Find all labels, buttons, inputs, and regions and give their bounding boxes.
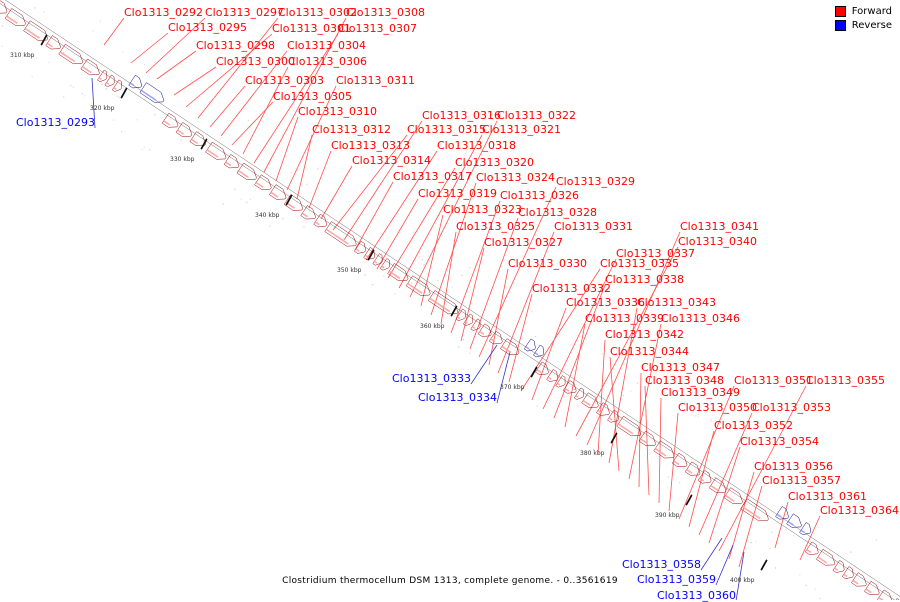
gene-label[interactable]: Clo1313_0348 — [645, 375, 724, 386]
gene-label[interactable]: Clo1313_0305 — [273, 91, 352, 102]
gene-label[interactable]: Clo1313_0295 — [168, 22, 247, 33]
gene-label[interactable]: Clo1313_0344 — [610, 346, 689, 357]
speckle — [623, 395, 624, 396]
speckle — [282, 218, 283, 219]
speckle — [850, 552, 851, 553]
speckle — [413, 232, 414, 233]
speckle — [630, 390, 631, 391]
gene-label[interactable]: Clo1313_0358 — [622, 559, 701, 570]
gene-label[interactable]: Clo1313_0355 — [806, 375, 885, 386]
speckle — [419, 256, 420, 257]
speckle — [113, 120, 114, 121]
speckle — [626, 411, 627, 412]
gene-label[interactable]: Clo1313_0346 — [661, 313, 740, 324]
speckle — [698, 414, 699, 415]
gene-label[interactable]: Clo1313_0325 — [456, 221, 535, 232]
speckle — [117, 96, 118, 97]
speckle — [100, 66, 101, 67]
gene-label[interactable]: Clo1313_0336 — [566, 297, 645, 308]
speckle — [550, 344, 551, 345]
speckle — [451, 287, 452, 288]
ruler-tick-mark — [762, 561, 767, 570]
speckle — [698, 416, 699, 417]
gene-label[interactable]: Clo1313_0311 — [336, 75, 415, 86]
gene-label-leader — [210, 86, 245, 127]
speckle — [423, 264, 424, 265]
gene-label[interactable]: Clo1313_0292 — [124, 7, 203, 18]
speckle — [112, 20, 113, 21]
speckle — [639, 437, 640, 438]
speckle — [73, 87, 74, 88]
speckle — [428, 251, 429, 252]
legend-label-reverse: Reverse — [852, 20, 892, 31]
gene-label[interactable]: Clo1313_0293 — [16, 117, 95, 128]
gene-label[interactable]: Clo1313_0324 — [476, 172, 555, 183]
speckle — [248, 120, 249, 121]
gene-label-leader — [131, 33, 168, 63]
gene-label[interactable]: Clo1313_0339 — [585, 313, 664, 324]
gene-label[interactable]: Clo1313_0338 — [605, 274, 684, 285]
speckle — [589, 439, 590, 440]
speckle — [458, 346, 459, 347]
speckle — [106, 88, 107, 89]
gene-label[interactable]: Clo1313_0315 — [407, 124, 486, 135]
gene-label[interactable]: Clo1313_0333 — [392, 373, 471, 384]
gene-label[interactable]: Clo1313_0341 — [680, 221, 759, 232]
genome-map-viewport[interactable]: 310 kbp320 kbp330 kbp340 kbp350 kbp360 k… — [0, 0, 900, 600]
speckle — [102, 84, 103, 85]
gene-label[interactable]: Clo1313_0351 — [734, 375, 813, 386]
gene-label[interactable]: Clo1313_0318 — [437, 140, 516, 151]
gene-label[interactable]: Clo1313_0319 — [418, 188, 497, 199]
gene-label[interactable]: Clo1313_0360 — [657, 590, 736, 601]
speckle — [154, 114, 155, 115]
speckle — [241, 198, 242, 199]
gene-label-leader — [471, 345, 497, 384]
speckle — [372, 284, 373, 285]
gene-label[interactable]: Clo1313_0354 — [740, 436, 819, 447]
speckle — [121, 131, 122, 132]
gene-label-leader — [309, 151, 331, 208]
speckle — [480, 368, 481, 369]
gene-label[interactable]: Clo1313_0329 — [556, 176, 635, 187]
gene-label[interactable]: Clo1313_0332 — [532, 283, 611, 294]
gene-label-leader — [276, 117, 298, 181]
speckle — [469, 267, 470, 268]
gene-label[interactable]: Clo1313_0328 — [518, 207, 597, 218]
legend-item-forward[interactable]: Forward — [835, 6, 892, 17]
gene-label[interactable]: Clo1313_0356 — [754, 461, 833, 472]
speckle — [641, 379, 642, 380]
gene-label[interactable]: Clo1313_0350 — [678, 402, 757, 413]
speckle — [695, 415, 696, 416]
speckle — [692, 491, 693, 492]
speckle — [815, 589, 816, 590]
gene-label[interactable]: Clo1313_0337 — [616, 248, 695, 259]
gene-label[interactable]: Clo1313_0304 — [287, 40, 366, 51]
speckle — [1, 46, 2, 47]
gene-label[interactable]: Clo1313_0308 — [346, 7, 425, 18]
speckle — [181, 139, 182, 140]
speckle — [535, 336, 536, 337]
speckle — [100, 21, 101, 22]
ruler-tick-label: 330 kbp — [170, 156, 194, 163]
speckle — [683, 467, 684, 468]
speckle — [537, 406, 538, 407]
red-square-icon — [835, 6, 846, 17]
gene-glyph[interactable] — [129, 75, 142, 88]
speckle — [70, 85, 71, 86]
speckle — [108, 40, 109, 41]
speckle — [493, 356, 494, 357]
speckle — [630, 473, 631, 474]
speckle — [209, 102, 210, 103]
speckle — [637, 382, 638, 383]
speckle — [63, 96, 64, 97]
speckle — [223, 131, 224, 132]
speckle — [144, 147, 145, 148]
gene-label-leader — [174, 67, 216, 95]
gene-label[interactable]: Clo1313_0320 — [455, 157, 534, 168]
speckle — [263, 121, 264, 122]
gene-label[interactable]: Clo1313_0334 — [418, 392, 497, 403]
speckle — [461, 275, 462, 276]
speckle — [463, 339, 464, 340]
speckle — [422, 259, 423, 260]
gene-label[interactable]: Clo1313_0297 — [205, 7, 284, 18]
gene-label[interactable]: Clo1313_0313 — [331, 140, 410, 151]
speckle — [92, 30, 93, 31]
gene-label[interactable]: Clo1313_0306 — [288, 56, 367, 67]
legend-item-reverse[interactable]: Reverse — [835, 20, 892, 31]
speckle — [596, 417, 597, 418]
speckle — [223, 203, 224, 204]
speckle — [560, 325, 561, 326]
gene-label[interactable]: Clo1313_0364 — [820, 505, 899, 516]
ruler-tick-mark — [122, 89, 127, 98]
gene-label[interactable]: Clo1313_0327 — [484, 237, 563, 248]
gene-label[interactable]: Clo1313_0298 — [196, 40, 275, 51]
gene-label-leader — [701, 538, 722, 570]
ruler-tick-label: 390 kbp — [655, 512, 679, 519]
gene-glyph[interactable] — [524, 339, 535, 351]
speckle — [317, 168, 318, 169]
speckle — [327, 219, 328, 220]
strand-legend: Forward Reverse — [835, 6, 892, 31]
speckle — [531, 311, 532, 312]
gene-label[interactable]: Clo1313_0347 — [641, 362, 720, 373]
ruler-tick-label: 350 kbp — [337, 267, 361, 274]
speckle — [383, 275, 384, 276]
speckle — [269, 226, 270, 227]
speckle — [775, 567, 776, 568]
genome-map-canvas — [0, 0, 900, 600]
speckle — [437, 280, 438, 281]
speckle — [82, 93, 83, 94]
gene-label[interactable]: Clo1313_0330 — [508, 258, 587, 269]
speckle — [536, 387, 537, 388]
speckle — [755, 541, 756, 542]
gene-label[interactable]: Clo1313_0326 — [500, 190, 579, 201]
speckle — [36, 58, 37, 59]
speckle — [48, 62, 49, 63]
gene-label[interactable]: Clo1313_0307 — [338, 23, 417, 34]
speckle — [367, 193, 368, 194]
gene-label[interactable]: Clo1313_0343 — [637, 297, 716, 308]
speckle — [469, 353, 470, 354]
speckle — [714, 477, 715, 478]
genome-backbone[interactable] — [0, 0, 900, 600]
speckle — [395, 293, 396, 294]
gene-label-leader — [104, 18, 124, 45]
gene-label[interactable]: Clo1313_0312 — [312, 124, 391, 135]
gene-label[interactable]: Clo1313_0353 — [752, 402, 831, 413]
ruler-tick-label: 310 kbp — [10, 52, 34, 59]
gene-label[interactable]: Clo1313_0352 — [714, 420, 793, 431]
gene-label[interactable]: Clo1313_0323 — [443, 204, 522, 215]
speckle — [668, 477, 669, 478]
speckle — [2, 25, 3, 26]
gene-label[interactable]: Clo1313_0340 — [678, 236, 757, 247]
gene-label[interactable]: Clo1313_0316 — [422, 110, 501, 121]
ruler-tick-label: 380 kbp — [580, 450, 604, 457]
gene-label[interactable]: Clo1313_0361 — [788, 491, 867, 502]
gene-label[interactable]: Clo1313_0342 — [605, 329, 684, 340]
speckle — [876, 540, 877, 541]
speckle — [43, 11, 44, 12]
speckle — [602, 353, 603, 354]
speckle — [122, 51, 123, 52]
speckle — [612, 386, 613, 387]
speckle — [297, 167, 298, 168]
speckle — [32, 76, 33, 77]
speckle — [819, 598, 820, 599]
speckle — [771, 532, 772, 533]
gene-label[interactable]: Clo1313_0331 — [554, 221, 633, 232]
gene-label[interactable]: Clo1313_0357 — [762, 475, 841, 486]
gene-label[interactable]: Clo1313_0310 — [298, 106, 377, 117]
speckle — [723, 472, 724, 473]
speckle — [365, 274, 366, 275]
gene-label[interactable]: Clo1313_0321 — [482, 124, 561, 135]
speckle — [234, 189, 235, 190]
speckle — [303, 226, 304, 227]
speckle — [769, 548, 770, 549]
speckle — [84, 95, 85, 96]
gene-label[interactable]: Clo1313_0317 — [393, 171, 472, 182]
gene-glyph[interactable] — [787, 514, 802, 527]
speckle — [520, 364, 521, 365]
ruler-tick-label: 370 kbp — [500, 384, 524, 391]
speckle — [584, 334, 585, 335]
speckle — [34, 7, 35, 8]
speckle — [744, 490, 745, 491]
speckle — [291, 172, 292, 173]
ruler-tick-label: 340 kbp — [255, 212, 279, 219]
speckle — [307, 184, 308, 185]
ruler-tick-label: 320 kbp — [90, 105, 114, 112]
speckle — [149, 149, 150, 150]
gene-label[interactable]: Clo1313_0322 — [497, 110, 576, 121]
speckle — [751, 542, 752, 543]
speckle — [250, 199, 251, 200]
legend-label-forward: Forward — [852, 6, 892, 17]
speckle — [246, 202, 247, 203]
speckle — [119, 97, 120, 98]
speckle — [551, 389, 552, 390]
map-caption: Clostridium thermocellum DSM 1313, compl… — [0, 576, 900, 586]
speckle — [144, 64, 145, 65]
gene-label[interactable]: Clo1313_0303 — [245, 75, 324, 86]
speckle — [577, 405, 578, 406]
gene-label-leader — [157, 51, 196, 79]
speckle — [679, 482, 680, 483]
blue-square-icon — [835, 20, 846, 31]
speckle — [793, 535, 794, 536]
gene-label-leader — [297, 135, 312, 199]
gene-label[interactable]: Clo1313_0349 — [661, 387, 740, 398]
speckle — [142, 149, 143, 150]
gene-label[interactable]: Clo1313_0314 — [352, 155, 431, 166]
speckle — [711, 420, 712, 421]
gene-label-leader — [366, 151, 437, 260]
ruler-tick-label: 360 kbp — [420, 323, 444, 330]
gene-glyph[interactable] — [776, 506, 789, 519]
gene-label[interactable]: Clo1313_0300 — [216, 56, 295, 67]
speckle — [786, 529, 787, 530]
speckle — [282, 134, 283, 135]
speckle — [137, 119, 138, 120]
